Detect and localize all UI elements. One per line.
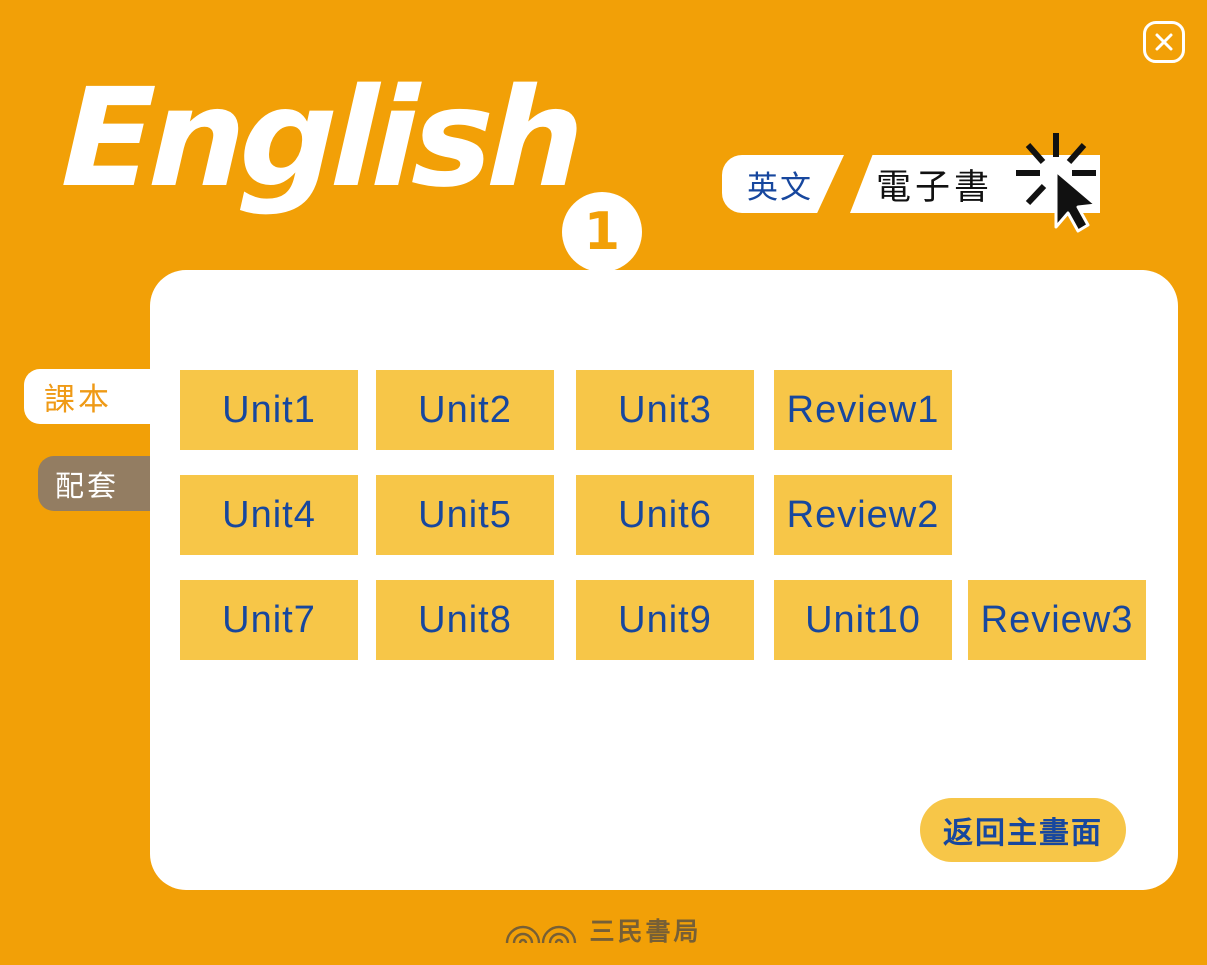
brand-wordmark: English 1 bbox=[62, 52, 622, 227]
content-panel: Unit1 Unit2 Unit3 Review1 Unit4 Unit5 Un… bbox=[150, 270, 1178, 890]
unit-button-unit3[interactable]: Unit3 bbox=[576, 370, 754, 450]
unit-row: Unit1 Unit2 Unit3 Review1 bbox=[180, 370, 1176, 450]
return-to-main-button[interactable]: 返回主畫面 bbox=[920, 798, 1126, 862]
return-button-label: 返回主畫面 bbox=[943, 808, 1103, 852]
unit-button-unit7[interactable]: Unit7 bbox=[180, 580, 358, 660]
unit-button-unit5[interactable]: Unit5 bbox=[376, 475, 554, 555]
unit-button-unit6[interactable]: Unit6 bbox=[576, 475, 754, 555]
unit-button-review2[interactable]: Review2 bbox=[774, 475, 952, 555]
badge-subject-label: 英文 bbox=[747, 162, 813, 207]
publisher-name: 三民書局 bbox=[589, 912, 701, 948]
sidebar-tab-label: 配套 bbox=[55, 463, 119, 505]
close-icon bbox=[1146, 24, 1182, 60]
unit-row: Unit4 Unit5 Unit6 Review2 bbox=[180, 475, 1176, 555]
unit-button-unit4[interactable]: Unit4 bbox=[180, 475, 358, 555]
unit-button-unit2[interactable]: Unit2 bbox=[376, 370, 554, 450]
app-root: English 1 英文 電子書 課本 配套 bbox=[0, 0, 1207, 965]
unit-button-unit1[interactable]: Unit1 bbox=[180, 370, 358, 450]
unit-button-unit10[interactable]: Unit10 bbox=[774, 580, 952, 660]
unit-row: Unit7 Unit8 Unit9 Unit10 Review3 bbox=[180, 580, 1176, 660]
unit-button-unit8[interactable]: Unit8 bbox=[376, 580, 554, 660]
click-cursor-icon bbox=[1004, 127, 1112, 235]
unit-grid: Unit1 Unit2 Unit3 Review1 Unit4 Unit5 Un… bbox=[180, 370, 1176, 685]
volume-number-badge: 1 bbox=[562, 192, 642, 272]
unit-button-review1[interactable]: Review1 bbox=[774, 370, 952, 450]
arch-mark-icon bbox=[505, 915, 579, 945]
wordmark-text: English bbox=[59, 52, 625, 227]
unit-button-unit9[interactable]: Unit9 bbox=[576, 580, 754, 660]
badge-type-label: 電子書 bbox=[876, 159, 993, 210]
badge-subject-wrap: 英文 bbox=[722, 155, 844, 213]
sidebar-tab-label: 課本 bbox=[44, 374, 112, 419]
unit-button-review3[interactable]: Review3 bbox=[968, 580, 1146, 660]
publisher-logo: 三民書局 bbox=[0, 906, 1207, 954]
close-button[interactable] bbox=[1143, 21, 1185, 63]
